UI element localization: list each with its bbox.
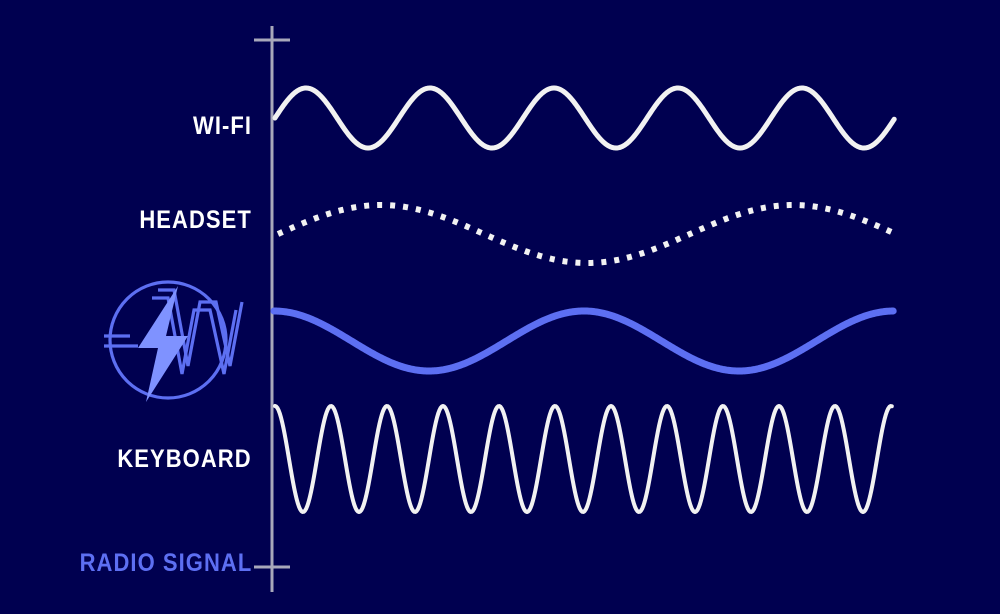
- waveform-blue-signal: [274, 311, 893, 371]
- logo-lightning-bolt-icon: [138, 286, 188, 402]
- waveform-wi-fi: [275, 88, 894, 148]
- signal-comparison-infographic: WI-FI HEADSET KEYBOARD RADIO SIGNAL: [0, 0, 1000, 614]
- waveform-headset: [278, 205, 895, 263]
- lightning-bolt-w-logo: [96, 274, 244, 406]
- waveform-keyboard: [275, 406, 892, 512]
- label-keyboard: KEYBOARD: [118, 447, 252, 472]
- label-radio-signal: RADIO SIGNAL: [79, 551, 252, 576]
- label-wifi: WI-FI: [193, 114, 252, 139]
- label-headset: HEADSET: [139, 208, 252, 233]
